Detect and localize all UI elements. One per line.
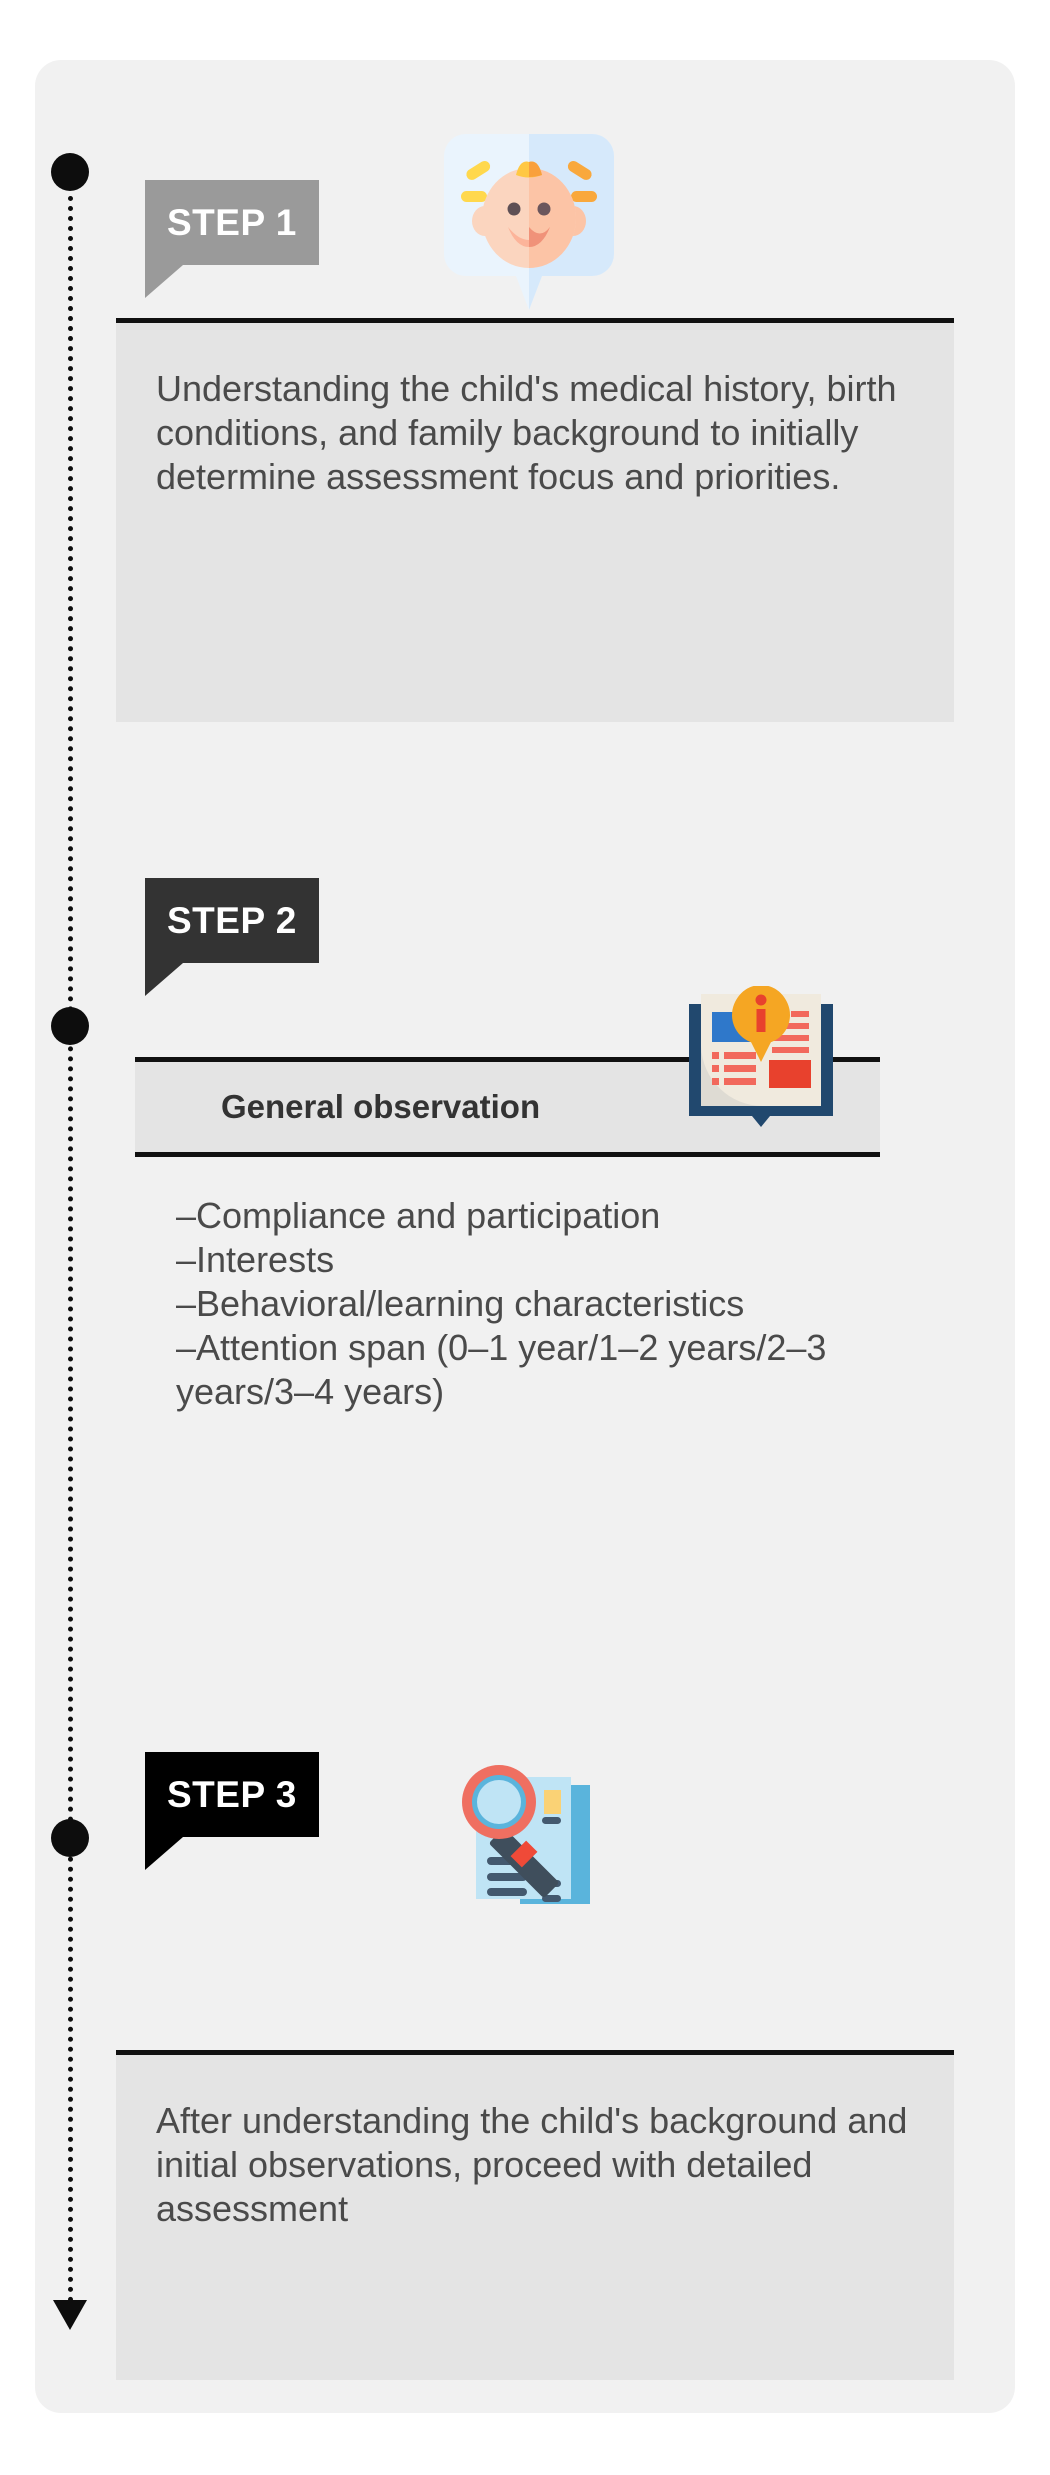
timeline-dotted-line — [68, 196, 73, 2314]
magnifier-document-icon — [460, 1752, 622, 1914]
timeline-dot-step-2 — [51, 1007, 89, 1045]
list-item: –Attention span (0–1 year/1–2 years/2–3 … — [176, 1326, 966, 1414]
step-3-badge-label: STEP 3 — [167, 1774, 297, 1816]
step-2-header-label: General observation — [221, 1088, 540, 1126]
list-item: –Compliance and participation — [176, 1194, 966, 1238]
baby-face-speech-bubble-icon — [438, 128, 620, 310]
step-2-bullet-list: –Compliance and participation –Interests… — [176, 1194, 966, 1414]
step-1-badge-label: STEP 1 — [167, 202, 297, 244]
timeline-dot-step-3 — [51, 1819, 89, 1857]
step-2-badge-label: STEP 2 — [167, 900, 297, 942]
step-1-content-box: Understanding the child's medical histor… — [116, 318, 954, 722]
step-1-badge[interactable]: STEP 1 — [145, 180, 319, 265]
step-3-badge[interactable]: STEP 3 — [145, 1752, 319, 1837]
step-2-badge[interactable]: STEP 2 — [145, 878, 319, 963]
step-3-body-text: After understanding the child's backgrou… — [156, 2099, 914, 2231]
list-item: –Interests — [176, 1238, 966, 1282]
timeline-arrow-icon — [53, 2300, 87, 2330]
step-1-body-text: Understanding the child's medical histor… — [156, 367, 914, 499]
timeline-infographic: STEP 1 — [0, 0, 1050, 2475]
open-book-info-icon — [680, 986, 842, 1134]
list-item: –Behavioral/learning characteristics — [176, 1282, 966, 1326]
timeline-dot-step-1 — [51, 153, 89, 191]
step-3-content-box: After understanding the child's backgrou… — [116, 2050, 954, 2380]
